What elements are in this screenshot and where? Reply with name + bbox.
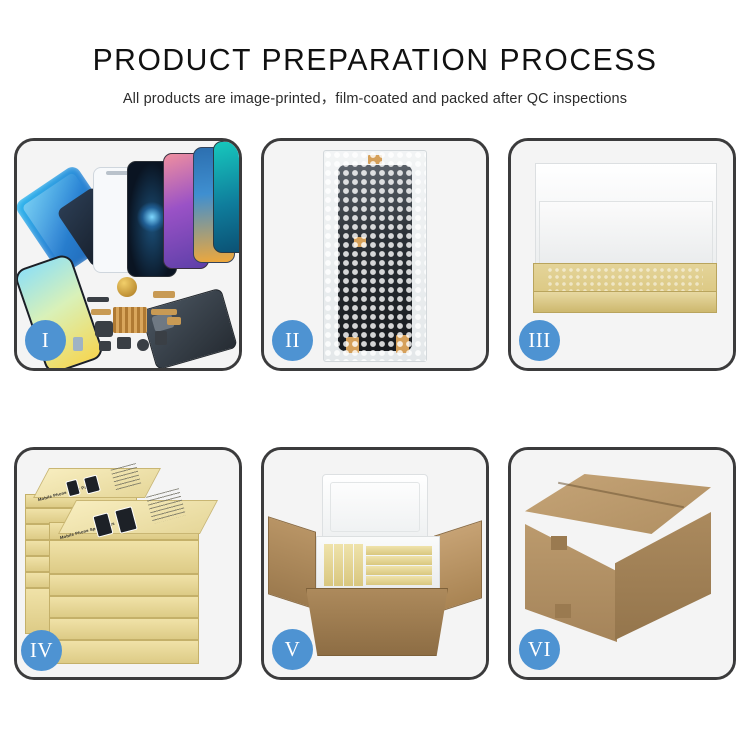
process-step-panel-5[interactable]: V [261,447,489,680]
process-step-panel-3[interactable]: III [508,138,736,371]
small-part-icon [137,339,149,351]
process-step-panel-1[interactable]: I [14,138,242,371]
yellow-box-icon [366,566,432,575]
carton-right-face-icon [615,512,711,640]
carton-top-face-icon [525,474,711,534]
step-badge-5: V [272,629,313,670]
phone-back-cover-icon [140,288,238,368]
step-badge-4: IV [21,630,62,671]
logic-board-icon [113,307,147,333]
foam-sheet-icon [539,201,713,269]
yellow-box-icon [366,576,432,585]
yellow-box-icon [344,544,353,586]
stacked-box-icon [49,640,199,664]
stacked-box-icon [49,540,199,574]
page-title: PRODUCT PREPARATION PROCESS [11,42,739,78]
foam-lid-icon [322,474,428,540]
flex-cable-icon [167,317,181,325]
process-step-panel-4[interactable]: Mobile Phone Spare Parts Mobile Phone Sp… [14,447,242,680]
small-part-icon [155,331,167,345]
flex-cable-icon [151,309,177,315]
step-badge-2: II [272,320,313,361]
step-badge-3: III [519,320,560,361]
carton-body-icon [306,588,448,656]
carton-tab-icon [555,604,571,618]
yellow-box-front-icon [533,291,717,313]
carton-tab-icon [551,536,567,550]
step-badge-6: VI [519,629,560,670]
small-part-icon [99,341,111,351]
bubble-wrap-bag-icon [323,150,427,362]
carton-left-face-icon [525,524,617,642]
process-step-grid: I II [14,138,736,690]
process-step-panel-6[interactable]: VI [508,447,736,680]
yellow-box-icon [366,556,432,565]
stacked-box-icon [49,618,199,640]
yellow-box-icon [334,544,343,586]
speaker-module-icon [117,277,137,297]
yellow-box-icon [354,544,363,586]
page-header: PRODUCT PREPARATION PROCESS All products… [0,0,750,108]
product-preparation-process-page: PRODUCT PREPARATION PROCESS All products… [0,0,750,750]
phone-teal-wallpaper-icon [213,141,239,253]
flex-cable-icon [91,309,111,315]
stacked-box-icon [49,574,199,596]
small-part-icon [95,321,113,337]
stacked-box-icon [49,596,199,618]
page-subtitle: All products are image-printed，film-coat… [0,87,750,108]
process-step-panel-2[interactable]: II [261,138,489,371]
yellow-box-icon [324,544,333,586]
small-part-icon [87,297,109,302]
flex-cable-icon [153,291,175,298]
small-part-icon [117,337,131,349]
bubble-texture-icon [324,151,426,361]
sim-tray-icon [73,337,83,351]
yellow-box-icon [366,546,432,555]
step-badge-1: I [25,320,66,361]
